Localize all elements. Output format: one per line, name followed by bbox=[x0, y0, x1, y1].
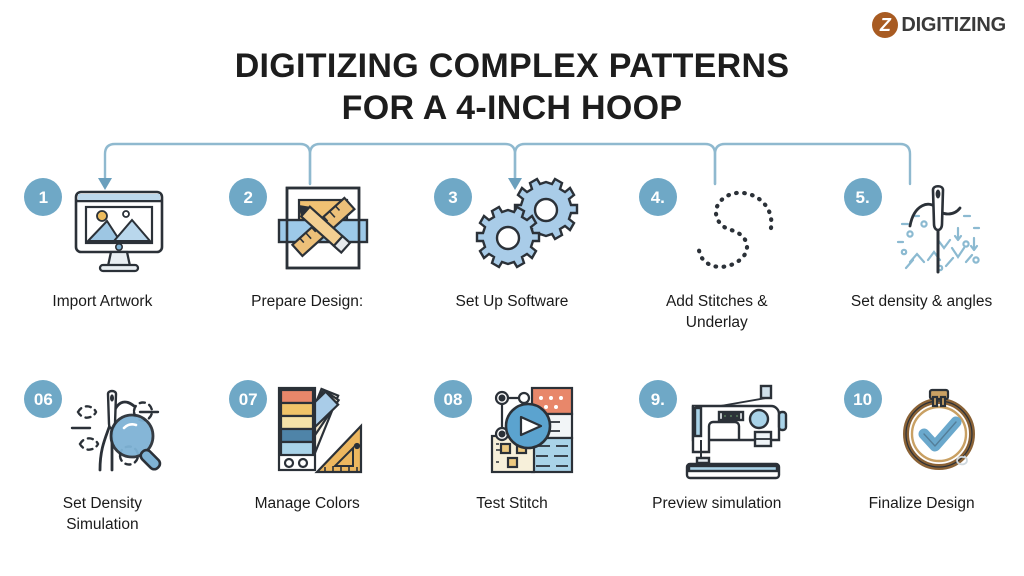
sewing-machine-icon bbox=[675, 378, 793, 486]
step-row-bottom: 06 bbox=[0, 378, 1024, 536]
step-graphic-4: 4. bbox=[637, 176, 797, 284]
brand-mark-icon: Z bbox=[872, 12, 898, 38]
step-number-badge-4: 4. bbox=[639, 178, 677, 216]
step-label-2-line-1: Prepare Design: bbox=[251, 293, 363, 310]
step-number-badge-10: 10 bbox=[844, 380, 882, 418]
step-graphic-10: 10 bbox=[842, 378, 1002, 486]
step-label-8-line-1: Test Stitch bbox=[476, 495, 548, 512]
color-swatch-fan-icon bbox=[265, 378, 383, 486]
step-graphic-2: 2 bbox=[227, 176, 387, 284]
step-label-2: Prepare Design: bbox=[212, 292, 402, 313]
step-graphic-8: 08 bbox=[432, 378, 592, 486]
step-item-6[interactable]: 06 bbox=[0, 378, 205, 536]
step-number-badge-7: 07 bbox=[229, 380, 267, 418]
step-number-badge-6: 06 bbox=[24, 380, 62, 418]
step-number-badge-9: 9. bbox=[639, 380, 677, 418]
fabric-swatch-play-icon bbox=[470, 378, 588, 486]
step-graphic-5: 5. bbox=[842, 176, 1002, 284]
step-label-6: Set Density Simulation bbox=[7, 494, 197, 536]
step-label-4-line-1: Add Stitches & bbox=[666, 293, 768, 310]
embroidery-hoop-check-icon bbox=[880, 378, 998, 486]
step-item-3[interactable]: 3 bbox=[410, 176, 615, 334]
step-item-7[interactable]: 07 bbox=[205, 378, 410, 536]
step-item-5[interactable]: 5. bbox=[819, 176, 1024, 334]
step-graphic-9: 9. bbox=[637, 378, 797, 486]
step-item-10[interactable]: 10 bbox=[819, 378, 1024, 536]
step-item-4[interactable]: 4. Add Stitches & Underlay bbox=[614, 176, 819, 334]
needle-thread-density-icon bbox=[880, 176, 998, 284]
step-item-1[interactable]: 1 Import Artwork bbox=[0, 176, 205, 334]
step-graphic-7: 07 bbox=[227, 378, 387, 486]
step-label-5: Set density & angles bbox=[827, 292, 1017, 313]
needle-magnifier-icon bbox=[60, 378, 178, 486]
step-label-8: Test Stitch bbox=[417, 494, 607, 515]
monitor-image-icon bbox=[60, 176, 178, 284]
step-label-9-line-1: Preview simulation bbox=[652, 495, 781, 512]
step-graphic-1: 1 bbox=[22, 176, 182, 284]
step-label-3: Set Up Software bbox=[417, 292, 607, 313]
brand-name: DIGITIZING bbox=[901, 14, 1006, 37]
step-label-7: Manage Colors bbox=[212, 494, 402, 515]
step-label-9: Preview simulation bbox=[622, 494, 812, 515]
step-item-9[interactable]: 9. bbox=[614, 378, 819, 536]
gears-icon bbox=[470, 176, 588, 284]
dotted-stitch-path-icon bbox=[675, 176, 793, 284]
step-label-10-line-1: Finalize Design bbox=[869, 495, 975, 512]
step-label-10: Finalize Design bbox=[827, 494, 1017, 515]
page-title-line-1: DIGITIZING COMPLEX PATTERNS bbox=[235, 47, 790, 85]
step-number-badge-8: 08 bbox=[434, 380, 472, 418]
step-row-top: 1 Import Artwork bbox=[0, 176, 1024, 334]
step-graphic-3: 3 bbox=[432, 176, 592, 284]
step-label-4: Add Stitches & Underlay bbox=[622, 292, 812, 334]
step-label-4-line-2: Underlay bbox=[622, 313, 812, 334]
step-number-badge-3: 3 bbox=[434, 178, 472, 216]
pencil-ruler-design-icon bbox=[265, 176, 383, 284]
step-label-7-line-1: Manage Colors bbox=[255, 495, 360, 512]
step-item-8[interactable]: 08 bbox=[410, 378, 615, 536]
step-item-2[interactable]: 2 bbox=[205, 176, 410, 334]
step-number-badge-5: 5. bbox=[844, 178, 882, 216]
step-label-6-line-2: Simulation bbox=[7, 515, 197, 536]
page-title-line-2: FOR A 4-INCH HOOP bbox=[0, 87, 1024, 130]
step-label-3-line-1: Set Up Software bbox=[456, 293, 569, 310]
brand-logo: Z DIGITIZING bbox=[872, 12, 1006, 38]
step-number-badge-2: 2 bbox=[229, 178, 267, 216]
step-label-5-line-1: Set density & angles bbox=[851, 293, 992, 310]
step-label-1: Import Artwork bbox=[7, 292, 197, 313]
step-graphic-6: 06 bbox=[22, 378, 182, 486]
step-label-1-line-1: Import Artwork bbox=[52, 293, 152, 310]
page-title: DIGITIZING COMPLEX PATTERNS FOR A 4-INCH… bbox=[0, 45, 1024, 130]
step-number-badge-1: 1 bbox=[24, 178, 62, 216]
step-label-6-line-1: Set Density bbox=[63, 495, 142, 512]
